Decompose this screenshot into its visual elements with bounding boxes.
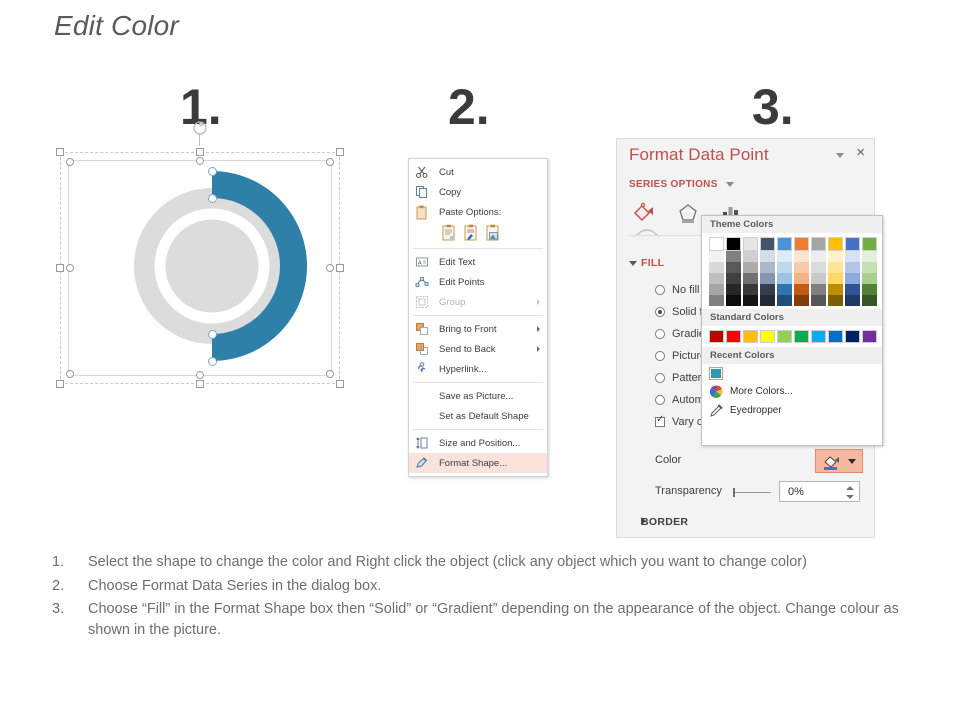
menu-item-size-and-position[interactable]: Size and Position... bbox=[409, 433, 547, 453]
color-swatch[interactable] bbox=[709, 262, 724, 273]
color-swatch[interactable] bbox=[845, 295, 860, 306]
color-swatch[interactable] bbox=[794, 295, 809, 306]
plot-handle-top-left[interactable] bbox=[66, 158, 74, 166]
instructions-list: 1.Select the shape to change the color a… bbox=[52, 552, 902, 643]
color-swatch[interactable] bbox=[845, 284, 860, 295]
page-title: Edit Color bbox=[54, 10, 179, 42]
color-swatch[interactable] bbox=[726, 262, 741, 273]
color-swatch[interactable] bbox=[743, 237, 758, 251]
color-swatch[interactable] bbox=[777, 330, 792, 343]
step-number-3: 3. bbox=[752, 78, 794, 136]
format-data-point-pane: Format Data Point × SERIES OPTIONS bbox=[616, 138, 875, 538]
color-swatch[interactable] bbox=[743, 273, 758, 284]
color-swatch[interactable] bbox=[743, 251, 758, 262]
color-swatch[interactable] bbox=[845, 330, 860, 343]
menu-item-send-to-back[interactable]: Send to Back bbox=[409, 339, 547, 359]
color-swatch[interactable] bbox=[862, 237, 877, 251]
color-picker-dropdown[interactable]: Theme Colors Standard Colors Recent Colo… bbox=[701, 215, 883, 446]
color-swatch[interactable] bbox=[828, 284, 843, 295]
segment-handle-inner-end[interactable] bbox=[208, 330, 217, 339]
checkbox-indicator-checked bbox=[655, 417, 665, 427]
color-swatch[interactable] bbox=[760, 273, 775, 284]
radio-indicator bbox=[655, 285, 665, 295]
theme-colors-variant-row-4[interactable] bbox=[709, 284, 882, 295]
recent-colors-row[interactable] bbox=[702, 364, 882, 382]
color-swatch[interactable] bbox=[760, 251, 775, 262]
menu-item-label: Set as Default Shape bbox=[439, 411, 529, 422]
format-shape-icon bbox=[415, 456, 429, 470]
plot-handle-top-right[interactable] bbox=[326, 158, 334, 166]
color-swatch[interactable] bbox=[760, 284, 775, 295]
menu-item-bring-to-front[interactable]: Bring to Front bbox=[409, 319, 547, 339]
radio-label: Autom bbox=[672, 394, 704, 406]
paste-options-icon-row[interactable]: a bbox=[409, 222, 547, 245]
color-swatch[interactable] bbox=[828, 262, 843, 273]
instruction-item: 2.Choose Format Data Series in the dialo… bbox=[52, 576, 902, 597]
spinner-arrows[interactable] bbox=[846, 484, 854, 501]
donut-inner-circle bbox=[166, 220, 258, 312]
menu-item-label: Edit Text bbox=[439, 257, 475, 268]
color-swatch[interactable] bbox=[777, 284, 792, 295]
color-swatch[interactable] bbox=[743, 262, 758, 273]
chevron-down-icon[interactable] bbox=[836, 153, 844, 158]
menu-item-cut[interactable]: Cut bbox=[409, 162, 547, 182]
menu-item-group: Group bbox=[409, 292, 547, 312]
resize-handle-bottom-left[interactable] bbox=[56, 380, 64, 388]
menu-item-label: Hyperlink... bbox=[439, 364, 487, 375]
color-swatch[interactable] bbox=[777, 295, 792, 306]
resize-handle-bottom-center[interactable] bbox=[196, 380, 204, 388]
color-swatch[interactable] bbox=[709, 273, 724, 284]
send-back-icon bbox=[415, 342, 429, 356]
submenu-arrow-icon bbox=[537, 346, 540, 352]
segment-handle-outer-end[interactable] bbox=[208, 357, 217, 366]
size-position-icon bbox=[415, 436, 429, 450]
instruction-item: 1.Select the shape to change the color a… bbox=[52, 552, 902, 573]
menu-item-edit-text[interactable]: A Edit Text bbox=[409, 252, 547, 272]
menu-item-label: Save as Picture... bbox=[439, 391, 513, 402]
border-section[interactable]: BORDER bbox=[629, 517, 829, 533]
hyperlink-icon bbox=[415, 362, 429, 376]
color-swatch[interactable] bbox=[828, 295, 843, 306]
recent-colors-header: Recent Colors bbox=[702, 347, 882, 364]
color-swatch[interactable] bbox=[777, 273, 792, 284]
menu-item-label: Size and Position... bbox=[439, 438, 520, 449]
bring-front-icon bbox=[415, 322, 429, 336]
menu-item-label: Format Shape... bbox=[439, 458, 507, 469]
resize-handle-top-left[interactable] bbox=[56, 148, 64, 156]
menu-item-copy[interactable]: Copy bbox=[409, 182, 547, 202]
instruction-number: 2. bbox=[52, 576, 88, 597]
step-number-2: 2. bbox=[448, 78, 490, 136]
resize-handle-top-right[interactable] bbox=[336, 148, 344, 156]
radio-indicator bbox=[655, 395, 665, 405]
color-swatch[interactable] bbox=[845, 237, 860, 251]
color-swatch[interactable] bbox=[794, 273, 809, 284]
color-swatch[interactable] bbox=[777, 251, 792, 262]
instruction-text: Choose Format Data Series in the dialog … bbox=[88, 576, 902, 597]
transparency-label: Transparency bbox=[655, 485, 722, 497]
theme-colors-variant-row-1[interactable] bbox=[709, 251, 882, 262]
plot-handle-middle-left[interactable] bbox=[66, 264, 74, 272]
radio-indicator bbox=[655, 329, 665, 339]
instruction-text: Choose “Fill” in the Format Shape box th… bbox=[88, 599, 902, 640]
rotation-handle[interactable] bbox=[192, 120, 208, 146]
fill-bucket-icon[interactable] bbox=[631, 201, 665, 227]
color-swatch[interactable] bbox=[845, 251, 860, 262]
color-swatch[interactable] bbox=[760, 262, 775, 273]
color-swatch[interactable] bbox=[794, 251, 809, 262]
color-label: Color bbox=[655, 454, 681, 466]
color-swatch[interactable] bbox=[794, 262, 809, 273]
color-swatch[interactable] bbox=[811, 295, 826, 306]
color-swatch[interactable] bbox=[811, 330, 826, 343]
transparency-value: 0% bbox=[788, 486, 804, 498]
menu-item-paste-options: Paste Options: bbox=[409, 202, 547, 222]
shape-context-menu[interactable]: Cut Copy Paste Options: a bbox=[408, 158, 548, 477]
submenu-arrow-icon bbox=[537, 299, 540, 305]
standard-colors-row[interactable] bbox=[702, 326, 882, 347]
color-wheel-icon bbox=[709, 384, 724, 399]
color-swatch[interactable] bbox=[760, 295, 775, 306]
menu-item-edit-points[interactable]: Edit Points bbox=[409, 272, 547, 292]
color-swatch[interactable] bbox=[743, 295, 758, 306]
color-swatch[interactable] bbox=[760, 237, 775, 251]
radio-indicator bbox=[655, 351, 665, 361]
color-swatch[interactable] bbox=[862, 330, 877, 343]
theme-colors-variant-row-5[interactable] bbox=[709, 295, 882, 306]
color-swatch[interactable] bbox=[828, 237, 843, 251]
menu-item-label: Paste Options: bbox=[439, 207, 501, 218]
theme-colors-variant-row-3[interactable] bbox=[709, 273, 882, 284]
copy-icon bbox=[415, 185, 429, 199]
color-swatch[interactable] bbox=[862, 295, 877, 306]
menu-divider bbox=[413, 382, 543, 383]
eyedropper-label: Eyedropper bbox=[730, 405, 782, 416]
color-swatch[interactable] bbox=[726, 251, 741, 262]
theme-colors-grid[interactable] bbox=[702, 233, 882, 309]
segment-handle-outer-start[interactable] bbox=[208, 167, 217, 176]
radio-indicator-selected bbox=[655, 307, 665, 317]
instruction-number: 3. bbox=[52, 599, 88, 640]
instruction-number: 1. bbox=[52, 552, 88, 573]
theme-colors-base-row[interactable] bbox=[709, 237, 882, 251]
menu-item-label: Edit Points bbox=[439, 277, 484, 288]
menu-divider bbox=[413, 248, 543, 249]
plot-handle-bottom-right[interactable] bbox=[326, 370, 334, 378]
chevron-down-icon bbox=[726, 182, 734, 187]
donut-chart-panel bbox=[56, 148, 344, 388]
radio-indicator bbox=[655, 373, 665, 383]
edit-text-icon: A bbox=[415, 255, 429, 269]
plot-handle-bottom-left[interactable] bbox=[66, 370, 74, 378]
spinner-down-icon[interactable] bbox=[846, 495, 854, 499]
instruction-text: Select the shape to change the color and… bbox=[88, 552, 902, 573]
eyedropper-icon bbox=[709, 403, 724, 418]
color-swatch[interactable] bbox=[777, 262, 792, 273]
fill-section-expand-triangle[interactable] bbox=[629, 261, 637, 266]
chevron-down-icon bbox=[848, 459, 856, 464]
color-swatch[interactable] bbox=[726, 284, 741, 295]
standard-colors-header: Standard Colors bbox=[702, 309, 882, 326]
theme-colors-header: Theme Colors bbox=[702, 216, 882, 233]
transparency-slider[interactable] bbox=[735, 492, 771, 493]
color-swatch[interactable] bbox=[811, 284, 826, 295]
menu-item-label: Group bbox=[439, 297, 465, 308]
plot-handle-middle-right[interactable] bbox=[326, 264, 334, 272]
color-swatch[interactable] bbox=[811, 273, 826, 284]
series-options-label: SERIES OPTIONS bbox=[629, 179, 718, 190]
clipboard-icon bbox=[415, 205, 429, 219]
menu-item-label: Copy bbox=[439, 187, 461, 198]
color-swatch[interactable] bbox=[862, 262, 877, 273]
resize-handle-top-center[interactable] bbox=[196, 148, 204, 156]
color-swatch[interactable] bbox=[726, 237, 741, 251]
group-icon bbox=[415, 295, 429, 309]
color-swatch[interactable] bbox=[794, 237, 809, 251]
color-swatch[interactable] bbox=[777, 237, 792, 251]
color-swatch[interactable] bbox=[811, 237, 826, 251]
slider-knob[interactable] bbox=[733, 488, 735, 497]
close-icon[interactable]: × bbox=[856, 145, 865, 160]
menu-item-format-shape[interactable]: Format Shape... bbox=[409, 453, 547, 473]
color-swatch[interactable] bbox=[743, 284, 758, 295]
radio-label: No fill bbox=[672, 284, 700, 296]
fill-color-button[interactable] bbox=[815, 449, 863, 473]
color-swatch[interactable] bbox=[726, 330, 741, 343]
pane-title: Format Data Point bbox=[629, 145, 769, 165]
color-swatch[interactable] bbox=[811, 262, 826, 273]
plot-handle-top-center[interactable] bbox=[196, 157, 204, 165]
color-row: Color bbox=[655, 449, 860, 475]
color-swatch[interactable] bbox=[709, 251, 724, 262]
color-swatch[interactable] bbox=[845, 262, 860, 273]
svg-text:A: A bbox=[418, 261, 422, 267]
color-swatch[interactable] bbox=[709, 284, 724, 295]
transparency-input[interactable]: 0% bbox=[779, 481, 860, 502]
menu-item-hyperlink[interactable]: Hyperlink... bbox=[409, 359, 547, 379]
menu-item-save-as-picture[interactable]: Save as Picture... bbox=[409, 386, 547, 406]
paste-keep-formatting-icon[interactable] bbox=[463, 224, 479, 241]
eyedropper-item[interactable]: Eyedropper bbox=[702, 401, 882, 420]
color-swatch[interactable] bbox=[845, 273, 860, 284]
plot-handle-bottom-center[interactable] bbox=[196, 371, 204, 379]
paste-picture-icon[interactable] bbox=[485, 224, 501, 241]
menu-divider bbox=[413, 315, 543, 316]
donut-chart[interactable] bbox=[112, 166, 312, 366]
color-swatch[interactable] bbox=[862, 273, 877, 284]
paste-keep-text-icon[interactable]: a bbox=[441, 224, 457, 241]
color-swatch[interactable] bbox=[726, 273, 741, 284]
color-swatch[interactable] bbox=[709, 237, 724, 251]
series-options-dropdown[interactable]: SERIES OPTIONS bbox=[629, 179, 734, 190]
menu-item-label: Bring to Front bbox=[439, 324, 497, 335]
color-swatch[interactable] bbox=[760, 330, 775, 343]
theme-colors-variant-row-2[interactable] bbox=[709, 262, 882, 273]
color-swatch[interactable] bbox=[862, 284, 877, 295]
menu-item-set-as-default-shape[interactable]: Set as Default Shape bbox=[409, 406, 547, 426]
more-colors-item[interactable]: More Colors... bbox=[702, 382, 882, 401]
more-colors-label: More Colors... bbox=[730, 386, 793, 397]
instruction-item: 3.Choose “Fill” in the Format Shape box … bbox=[52, 599, 902, 640]
fill-bucket-icon bbox=[822, 453, 842, 471]
color-swatch[interactable] bbox=[726, 295, 741, 306]
color-swatch[interactable] bbox=[828, 330, 843, 343]
color-swatch bbox=[711, 369, 721, 378]
color-swatch[interactable] bbox=[743, 330, 758, 343]
color-swatch[interactable] bbox=[794, 284, 809, 295]
color-swatch[interactable] bbox=[811, 251, 826, 262]
color-swatch[interactable] bbox=[828, 273, 843, 284]
resize-handle-bottom-right[interactable] bbox=[336, 380, 344, 388]
resize-handle-middle-left[interactable] bbox=[56, 264, 64, 272]
menu-divider bbox=[413, 429, 543, 430]
submenu-arrow-icon bbox=[537, 326, 540, 332]
border-section-header: BORDER bbox=[641, 516, 688, 528]
color-swatch[interactable] bbox=[862, 251, 877, 262]
menu-item-label: Send to Back bbox=[439, 344, 496, 355]
resize-handle-middle-right[interactable] bbox=[336, 264, 344, 272]
color-swatch[interactable] bbox=[794, 330, 809, 343]
fill-section-header: FILL bbox=[641, 257, 664, 269]
color-swatch[interactable] bbox=[828, 251, 843, 262]
recent-color-swatch[interactable] bbox=[709, 367, 723, 380]
transparency-row: Transparency 0% bbox=[655, 481, 870, 503]
edit-points-icon bbox=[415, 275, 429, 289]
color-swatch[interactable] bbox=[709, 330, 724, 343]
scissors-icon bbox=[415, 165, 429, 179]
spinner-up-icon[interactable] bbox=[846, 486, 854, 490]
segment-handle-inner-start[interactable] bbox=[208, 194, 217, 203]
color-swatch[interactable] bbox=[709, 295, 724, 306]
svg-text:a: a bbox=[450, 235, 453, 241]
menu-item-label: Cut bbox=[439, 167, 454, 178]
